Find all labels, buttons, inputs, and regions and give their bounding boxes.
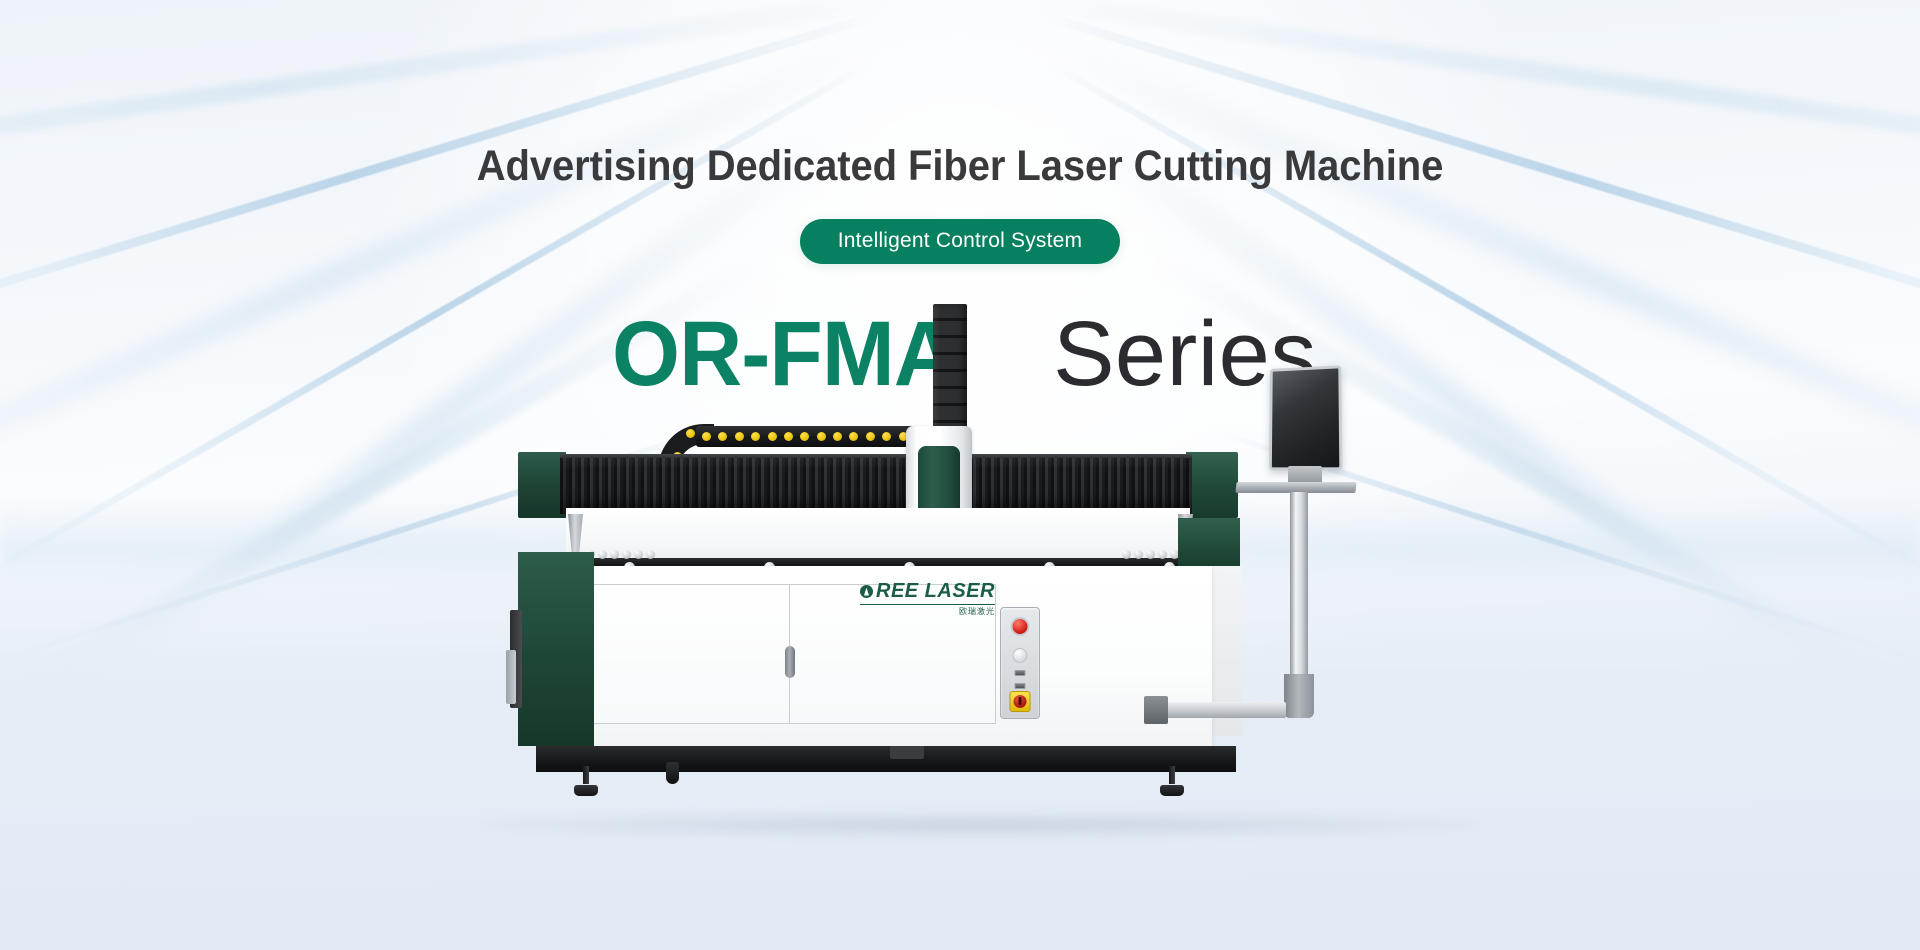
leveling-foot-icon <box>574 766 598 796</box>
key-switch[interactable] <box>1010 691 1031 712</box>
bed-roller-cluster-left <box>586 550 655 559</box>
status-badge[interactable]: Intelligent Control System <box>800 219 1120 264</box>
control-panel[interactable] <box>1000 607 1040 719</box>
hmi-support-post <box>1290 492 1308 682</box>
hmi-support-arm <box>1158 702 1286 718</box>
laser-head-mast <box>933 304 967 432</box>
brand-logo: REE LASER 欧瑞激光 <box>860 580 995 617</box>
hmi-screen[interactable] <box>1269 365 1343 470</box>
cable-chain-dots <box>702 432 924 441</box>
leveling-foot-right-icon <box>1160 766 1184 796</box>
power-button[interactable] <box>1013 648 1028 663</box>
brand-logo-sub: 欧瑞激光 <box>860 604 995 617</box>
hmi-arm-joint <box>1144 696 1168 724</box>
hero-banner: Advertising Dedicated Fiber Laser Cuttin… <box>0 0 1920 950</box>
page-title: Advertising Dedicated Fiber Laser Cuttin… <box>67 142 1853 191</box>
toggle-switch-laser[interactable] <box>1015 670 1026 676</box>
brand-mark-icon <box>860 585 873 598</box>
body-side-panel-left <box>518 552 594 746</box>
badge-row: Intelligent Control System <box>0 219 1920 264</box>
emergency-stop-button[interactable] <box>1011 617 1030 636</box>
base-center-notch <box>890 746 924 759</box>
side-vent-secondary-icon <box>506 650 516 704</box>
laser-machine-illustration: OREE <box>560 370 1400 840</box>
hmi-arm-elbow <box>1284 674 1314 718</box>
machine-base-frame <box>536 746 1236 772</box>
brand-logo-text: REE LASER <box>876 580 995 603</box>
brand-logo-main: REE LASER <box>860 580 995 603</box>
gantry-end-cap-left <box>518 452 566 518</box>
cabinet-door-handle[interactable] <box>785 646 795 678</box>
toggle-switch-light[interactable] <box>1015 683 1026 689</box>
base-caster <box>666 762 679 784</box>
cabinet-door-left[interactable] <box>584 584 790 724</box>
hmi-monitor-icon <box>1214 366 1374 766</box>
